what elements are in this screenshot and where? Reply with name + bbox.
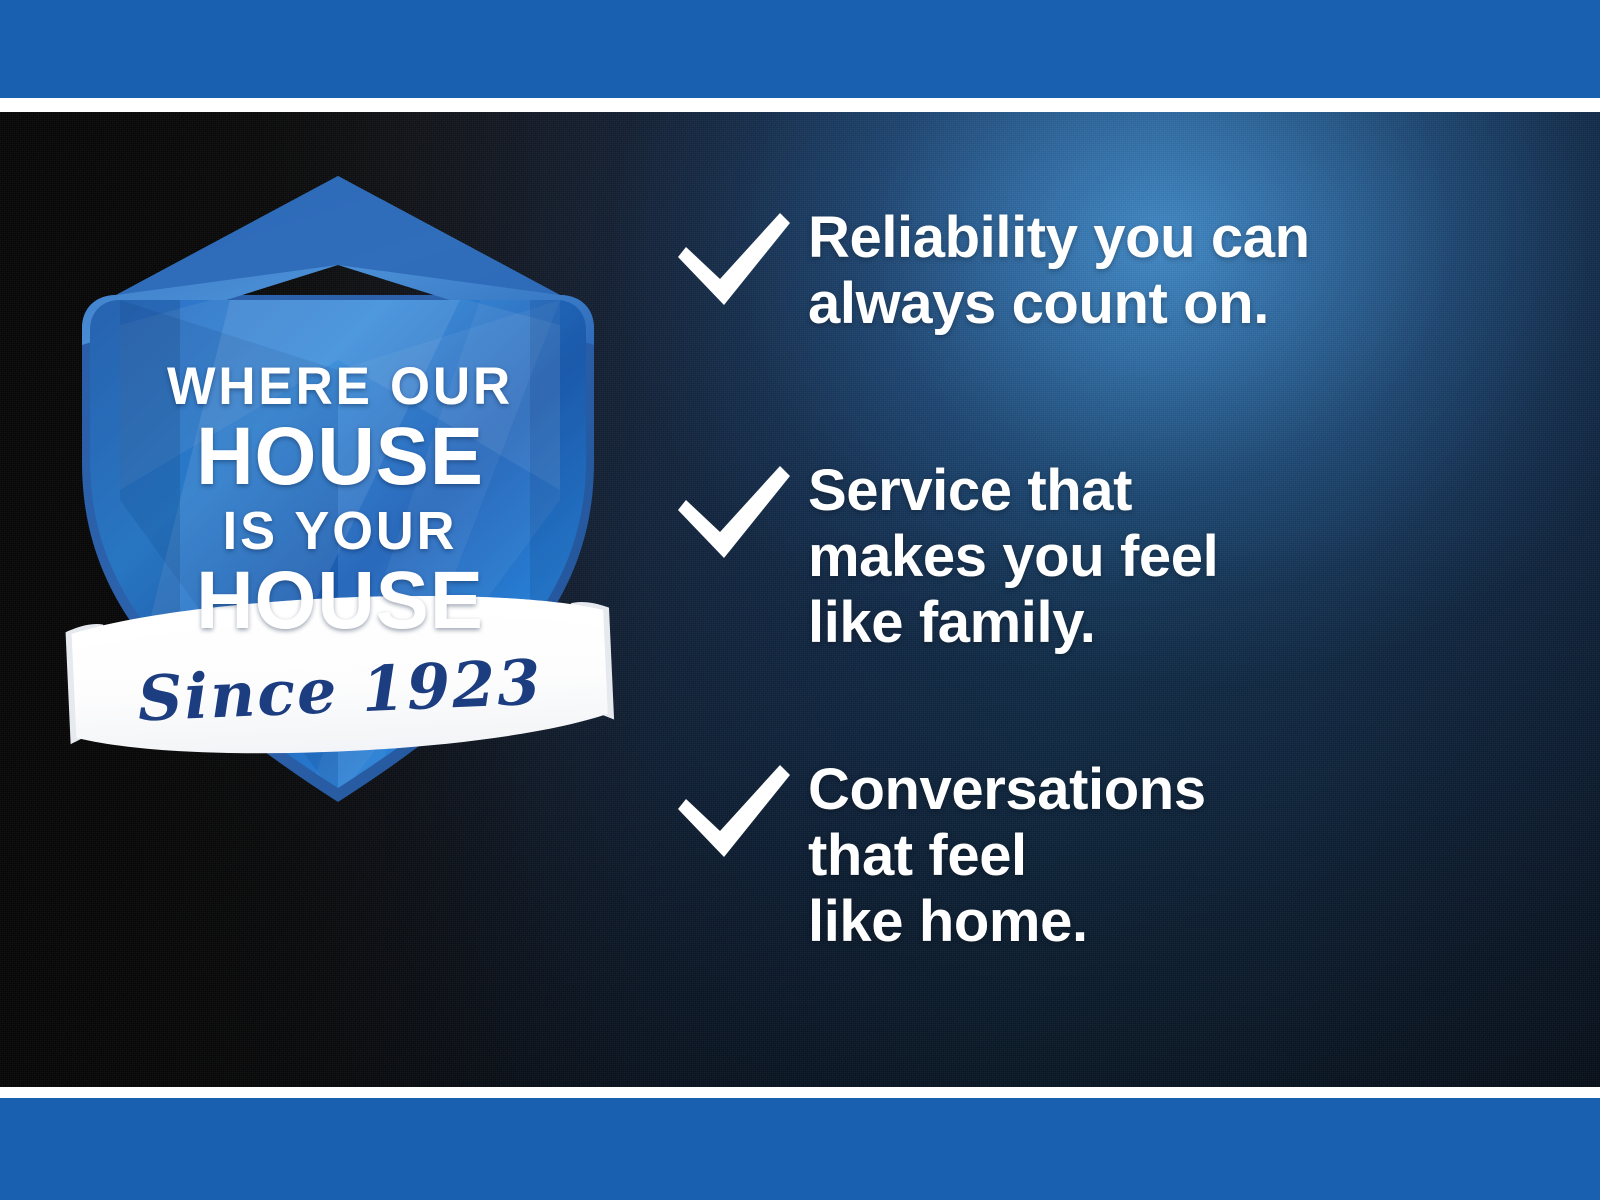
logo-line-3: IS YOUR: [68, 504, 611, 558]
check-icon: [668, 458, 796, 570]
logo-line-4: HOUSE: [68, 560, 611, 642]
benefits-list: Reliability you can always count on. Ser…: [668, 112, 1568, 1087]
list-item: Service that makes you feel like family.: [668, 458, 1218, 656]
logo-line-2: HOUSE: [68, 416, 611, 498]
check-icon: [668, 205, 796, 317]
check-icon: [668, 757, 796, 869]
logo-line-1: WHERE OUR: [68, 360, 611, 413]
promo-banner: WHERE OUR HOUSE IS YOUR HOUSE Since 1923…: [0, 0, 1600, 1200]
company-logo: WHERE OUR HOUSE IS YOUR HOUSE Since 1923: [60, 160, 620, 820]
list-item: Reliability you can always count on.: [668, 205, 1310, 337]
top-brand-bar: [0, 0, 1600, 98]
list-item-text: Conversations that feel like home.: [808, 757, 1206, 955]
bottom-brand-bar: [0, 1098, 1600, 1200]
list-item: Conversations that feel like home.: [668, 757, 1206, 955]
list-item-text: Reliability you can always count on.: [808, 205, 1310, 337]
list-item-text: Service that makes you feel like family.: [808, 458, 1218, 656]
